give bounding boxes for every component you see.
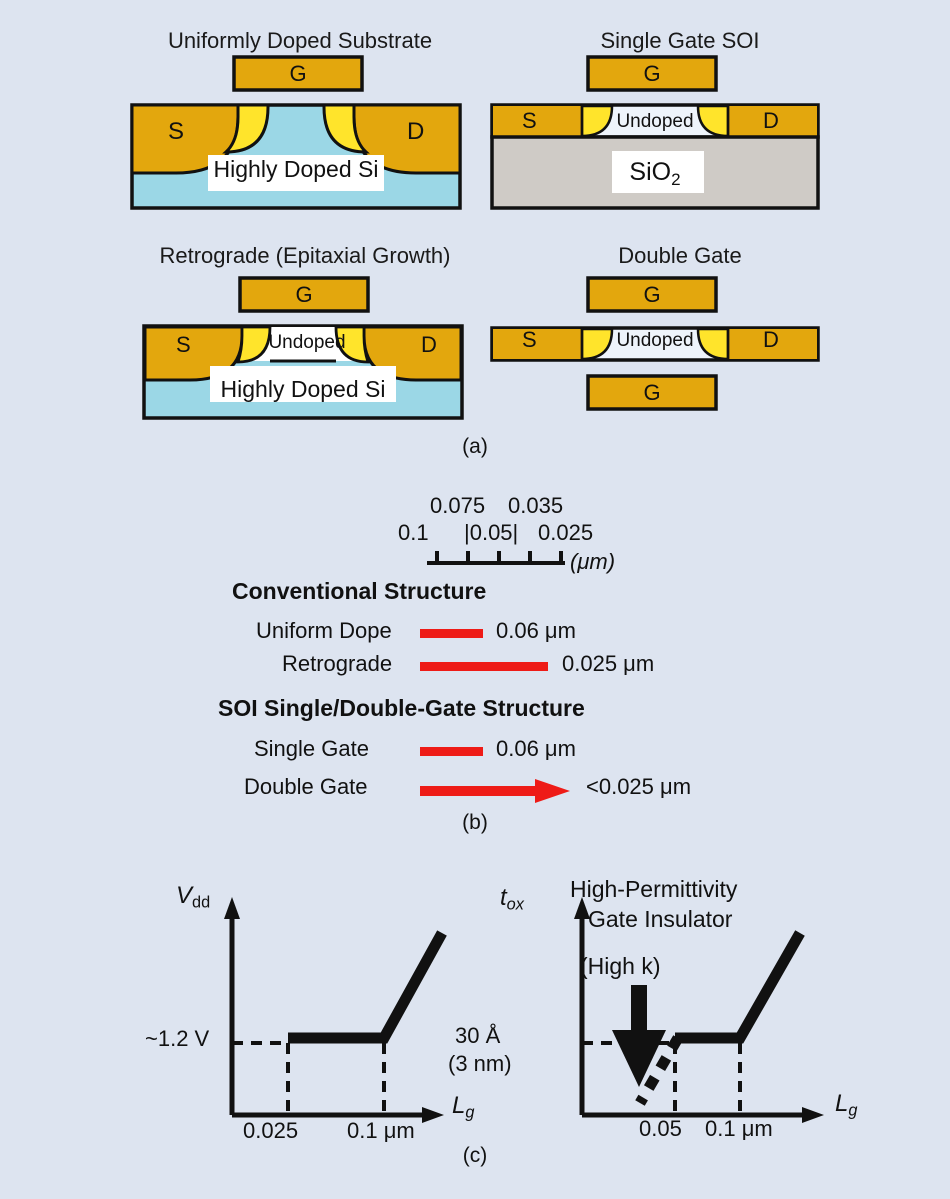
scale-tick-label-01: 0.1 <box>398 522 429 544</box>
xtick-01-text: 0.1 μm <box>347 1118 415 1143</box>
chart-vdd-xlabel: Lg <box>452 1092 474 1123</box>
row-value-retrograde: 0.025 μm <box>562 653 654 675</box>
chart-tox-ytick-30a: 30 Å <box>455 1025 500 1047</box>
scale-tick-label-0035: 0.035 <box>508 495 563 517</box>
diagram-title-single-gate-soi: Single Gate SOI <box>480 28 880 54</box>
scale-tick-label-0025: 0.025 <box>538 522 593 544</box>
chart-tox-ytick-3nm: (3 nm) <box>448 1053 512 1075</box>
chart-tox-xtick-005: 0.05 <box>639 1118 682 1140</box>
row-bar-single-gate <box>420 744 490 758</box>
gate-label: G <box>295 282 312 307</box>
ylabel-subscript: ox <box>507 896 524 914</box>
xlabel-symbol: L <box>835 1090 848 1117</box>
curve-tox <box>675 933 800 1038</box>
xlabel-subscript: g <box>848 1102 857 1120</box>
row-value-text: 0.06 μm <box>496 618 576 643</box>
panel-label-b: (b) <box>0 812 950 833</box>
row-value-double-gate: <0.025 μm <box>586 776 691 798</box>
panel-label-a: (a) <box>0 436 950 457</box>
row-label-double-gate: Double Gate <box>244 776 368 798</box>
source-label-s: S <box>522 110 537 132</box>
chart-tox-title-line1: High-Permittivity <box>570 878 737 901</box>
chart-tox-title-line2: Gate Insulator <box>588 908 732 931</box>
chart-vdd-xtick-0025: 0.025 <box>243 1120 298 1142</box>
gate-label-bottom: G <box>643 380 660 405</box>
group-heading-soi: SOI Single/Double-Gate Structure <box>218 697 585 720</box>
chart-tox-xtick-01: 0.1 μm <box>705 1118 773 1140</box>
drain-label-d-uniform: D <box>407 120 424 144</box>
row-bar-double-gate-arrow <box>420 778 580 804</box>
source-label-s-retrograde: S <box>176 334 191 356</box>
gate-label: G <box>643 61 660 86</box>
curve-vdd <box>288 933 442 1038</box>
ylabel-symbol: t <box>500 884 507 911</box>
high-k-down-arrow <box>612 985 666 1087</box>
oxide-label-text: SiO <box>629 158 671 186</box>
row-label-uniform-dope: Uniform Dope <box>256 620 392 642</box>
chart-vdd-xtick-01: 0.1 μm <box>347 1120 415 1142</box>
body-label-highly-doped-si: Highly Doped Si <box>130 158 462 181</box>
chart-vdd-vs-lg <box>150 875 470 1145</box>
scale-tick-label-005: |0.05| <box>464 522 518 544</box>
source-label-s-uniform: S <box>168 120 184 144</box>
diagram-single-gate-soi: G <box>490 55 830 215</box>
ylabel-symbol: V <box>176 882 192 909</box>
source-label-s-double-gate: S <box>522 329 537 351</box>
gate-label: G <box>289 61 306 86</box>
row-label-single-gate: Single Gate <box>254 738 369 760</box>
drain-label-d: D <box>763 110 779 132</box>
ylabel-subscript: dd <box>192 894 210 912</box>
gate-label-top: G <box>643 282 660 307</box>
diagram-title-double-gate: Double Gate <box>480 243 880 269</box>
chart-tox-ylabel: tox <box>500 884 524 915</box>
panel-label-c: (c) <box>0 1145 950 1166</box>
drain-label-d-retrograde: D <box>421 334 437 356</box>
xlabel-symbol: L <box>452 1092 465 1119</box>
scale-unit-label: (μm) <box>570 551 615 573</box>
row-label-retrograde: Retrograde <box>282 653 392 675</box>
chart-tox-annotation-high-k: (High k) <box>580 955 661 978</box>
scale-ruler <box>425 546 570 568</box>
chart-tox-xlabel: Lg <box>835 1090 857 1121</box>
row-bar-uniform-dope <box>420 626 490 640</box>
chart-vdd-ylabel: Vdd <box>176 882 210 913</box>
scale-tick-label-0075: 0.075 <box>430 495 485 517</box>
row-bar-retrograde <box>420 659 555 673</box>
chart-vdd-ytick-12v: ~1.2 V <box>145 1028 209 1050</box>
row-value-single-gate: 0.06 μm <box>496 738 576 760</box>
xlabel-subscript: g <box>465 1104 474 1122</box>
oxide-label-sio2: SiO2 <box>490 158 820 190</box>
body-label-highly-doped-si-retrograde: Highly Doped Si <box>142 378 464 401</box>
oxide-label-subscript: 2 <box>671 170 680 189</box>
drain-label-d-double-gate: D <box>763 329 779 351</box>
group-heading-conventional: Conventional Structure <box>232 580 486 603</box>
row-value-uniform-dope: 0.06 μm <box>496 620 576 642</box>
